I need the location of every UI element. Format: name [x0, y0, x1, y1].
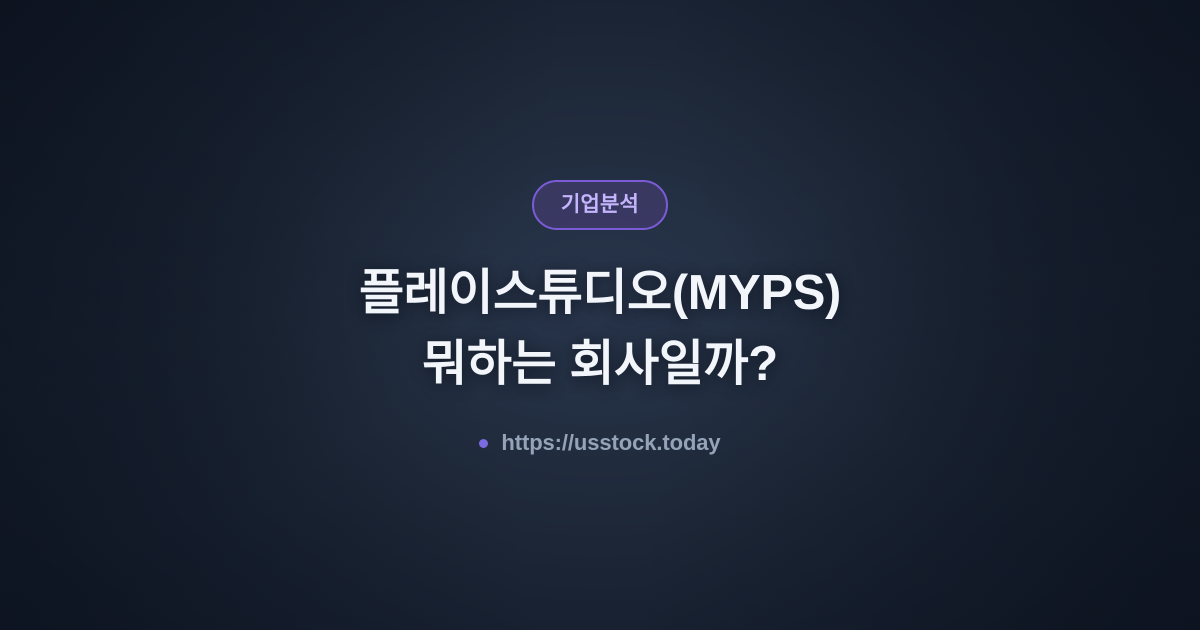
site-url-text: https://usstock.today [501, 430, 720, 456]
page-title-line-2: 뭐하는 회사일까? [359, 329, 841, 400]
site-url: https://usstock.today [479, 430, 720, 456]
page-title-line-1: 플레이스튜디오(MYPS) [359, 258, 841, 329]
bullet-dot-icon [479, 439, 488, 448]
og-card: 기업분석 플레이스튜디오(MYPS) 뭐하는 회사일까? https://uss… [0, 0, 1200, 630]
category-badge-label: 기업분석 [561, 194, 639, 215]
card-content: 기업분석 플레이스튜디오(MYPS) 뭐하는 회사일까? https://uss… [0, 0, 1200, 630]
page-title: 플레이스튜디오(MYPS) 뭐하는 회사일까? [359, 258, 841, 400]
category-badge: 기업분석 [532, 180, 668, 230]
